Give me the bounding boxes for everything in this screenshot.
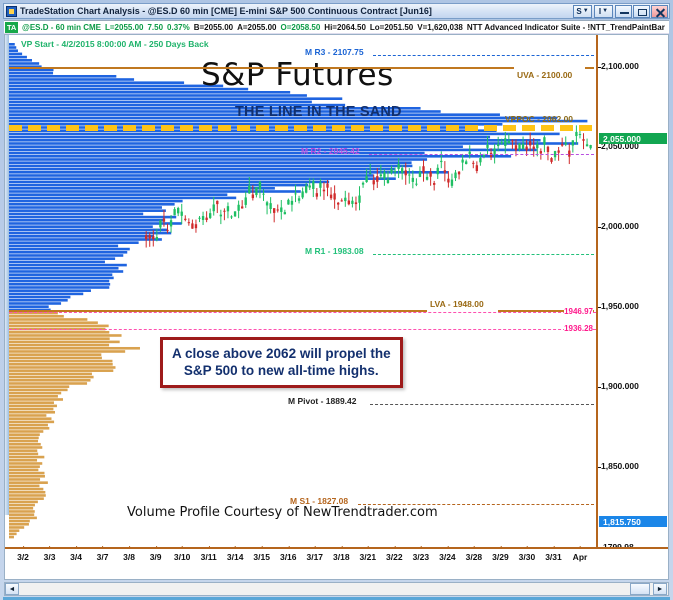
candle-body	[362, 183, 364, 185]
pink-line	[9, 312, 596, 313]
date-tick: 3/31	[545, 549, 562, 562]
callout-line-1: A close above 2062 will propel the	[172, 345, 391, 362]
candle-body	[518, 143, 520, 149]
candle-body	[287, 200, 289, 205]
candle-wick	[501, 139, 502, 145]
candle-wick	[416, 178, 417, 186]
candle-wick	[473, 161, 474, 168]
volume-profile-row	[9, 517, 37, 520]
bid-price: B=2055.00	[194, 23, 233, 32]
candle-body	[511, 140, 513, 141]
level-label: M R1 - 1983.08	[305, 246, 364, 256]
candle-body	[170, 220, 172, 226]
ask-price: A=2055.00	[237, 23, 276, 32]
close-button[interactable]	[651, 5, 668, 18]
candle-body	[561, 144, 563, 145]
scrollbar-track[interactable]	[19, 583, 668, 595]
volume-profile-row	[9, 456, 44, 459]
candle-body	[461, 160, 463, 163]
volume-profile-row	[9, 325, 109, 328]
volume-profile-row	[9, 273, 112, 276]
candle-body	[166, 230, 168, 231]
candle-body	[188, 222, 190, 223]
volume-profile-row	[9, 49, 18, 52]
volume-profile-row	[9, 529, 19, 532]
volume-profile-row	[9, 398, 63, 401]
volume-profile-row	[9, 501, 38, 504]
candle-body	[415, 184, 417, 185]
volume-profile-row	[9, 337, 110, 340]
candle-body	[358, 196, 360, 203]
horizontal-scrollbar[interactable]: ◄ ►	[4, 582, 669, 596]
candle-body	[152, 236, 154, 239]
candle-wick	[185, 215, 186, 221]
candle-body	[312, 181, 314, 189]
candle-body	[298, 198, 300, 200]
volume-profile-row	[9, 392, 61, 395]
candle-body	[294, 193, 296, 194]
date-tick: 3/17	[306, 549, 323, 562]
candle-wick	[224, 208, 225, 220]
quote-status-line: TA @ES.D - 60 min CME L=2055.00 7.50 0.3…	[4, 20, 669, 34]
candle-body	[437, 168, 439, 174]
volume-profile-row	[9, 155, 511, 158]
volume-profile-row	[9, 302, 61, 305]
volume-profile-row	[9, 334, 122, 337]
price-tick-label: 2,000.000	[601, 221, 639, 231]
candle-body	[426, 177, 428, 180]
volume-profile-row	[9, 382, 87, 385]
volume-profile-row	[9, 497, 44, 500]
candle-body	[284, 212, 286, 214]
candle-wick	[199, 216, 200, 222]
volume-profile-row	[9, 219, 165, 222]
volume-profile-row	[9, 293, 83, 296]
volume-profile-row	[9, 145, 463, 148]
candle-body	[309, 185, 311, 187]
volume-profile-row	[9, 366, 115, 369]
scroll-left-button[interactable]: ◄	[5, 583, 19, 595]
volume-profile-row	[9, 257, 115, 260]
price-tag-green: 2,055.000	[599, 133, 667, 144]
volume-profile-row	[9, 347, 140, 350]
candle-body	[557, 150, 559, 152]
candle-body	[348, 201, 350, 205]
date-tick: 3/22	[386, 549, 403, 562]
volume-profile-row	[9, 315, 64, 318]
candle-body	[245, 197, 247, 204]
volume-profile-row	[9, 353, 101, 356]
level-line	[373, 254, 594, 255]
volume-profile-row	[9, 152, 425, 155]
volume-profile-row	[9, 283, 110, 286]
volume-profile-row	[9, 120, 587, 123]
volume-profile-row	[9, 149, 537, 152]
volume-profile-row	[9, 363, 113, 366]
callout-line-2: S&P 500 to new all-time highs.	[172, 362, 391, 379]
volume-profile-row	[9, 203, 175, 206]
candle-body	[575, 132, 577, 136]
volume-profile-row	[9, 238, 162, 241]
level-line	[9, 67, 514, 69]
volume-profile-row	[9, 536, 14, 539]
candle-body	[230, 216, 232, 217]
volume-profile-row	[9, 289, 91, 292]
volume-profile-row	[9, 168, 395, 171]
candle-body	[369, 173, 371, 174]
level-label: LVA - 1948.00	[430, 299, 484, 309]
volume-profile-row	[9, 401, 54, 404]
candle-body	[234, 211, 236, 216]
candle-body	[213, 204, 215, 211]
chevron-down-icon: ▼	[602, 8, 608, 14]
candle-body	[159, 220, 161, 227]
indicator-dropdown-button[interactable]: I▼	[594, 5, 613, 18]
candle-body	[205, 218, 207, 220]
candle-wick	[363, 181, 364, 187]
volume-profile-row	[9, 478, 40, 481]
date-tick: 3/10	[174, 549, 191, 562]
candle-body	[209, 213, 211, 218]
candle-body	[259, 182, 261, 190]
volume-profile-row	[9, 331, 109, 334]
volume-profile-row	[9, 405, 57, 408]
candle-body	[380, 174, 382, 176]
volume-profile-row	[9, 56, 27, 59]
courtesy-annotation: Volume Profile Courtesy of NewTrendtrade…	[127, 505, 438, 520]
volume-value: V=1,620,038	[417, 23, 463, 32]
symbol-interval-label: @ES.D - 60 min CME	[22, 23, 101, 32]
magenta-price-tag: 1936.28	[564, 324, 593, 333]
volume-profile-row	[9, 376, 94, 379]
volume-profile-row	[9, 181, 329, 184]
candle-wick	[565, 136, 566, 146]
volume-profile-row	[9, 491, 45, 494]
candle-body	[440, 161, 442, 162]
candle-body	[280, 207, 282, 211]
magenta-price-tag: 1946.97	[564, 307, 593, 316]
volume-profile-row	[9, 299, 68, 302]
candle-body	[255, 187, 257, 195]
candle-body	[337, 203, 339, 205]
volume-profile-row	[9, 174, 373, 177]
date-tick: 3/2	[17, 549, 29, 562]
candle-wick	[188, 218, 189, 225]
candle-body	[458, 172, 460, 175]
level-label: UVA - 2100.00	[517, 70, 572, 80]
volume-profile-row	[9, 475, 45, 478]
level-label: VPPOC - 2062.00	[505, 114, 573, 124]
volume-profile-row	[9, 222, 182, 225]
candle-body	[550, 158, 552, 162]
volume-profile-row	[9, 462, 42, 465]
volume-profile-row	[9, 209, 166, 212]
candle-body	[383, 172, 385, 178]
volume-profile-row	[9, 216, 176, 219]
volume-profile-row	[9, 158, 427, 161]
window-title: TradeStation Chart Analysis - @ES.D 60 m…	[20, 6, 432, 16]
candle-wick	[149, 232, 150, 246]
volume-profile-row	[9, 59, 32, 62]
volume-profile-row	[9, 78, 134, 81]
style-dropdown-button[interactable]: S▼	[573, 5, 592, 18]
date-tick: 3/21	[360, 549, 377, 562]
price-tick-label: 1,850.000	[601, 461, 639, 471]
candle-wick	[252, 185, 253, 200]
candle-body	[536, 144, 538, 148]
volume-profile-row	[9, 251, 127, 254]
candle-body	[476, 165, 478, 171]
volume-profile-row	[9, 321, 98, 324]
candle-body	[501, 142, 503, 143]
candle-body	[486, 145, 488, 148]
volume-profile-row	[9, 161, 412, 164]
candle-body	[504, 138, 506, 146]
volume-profile-row	[9, 469, 38, 472]
volume-profile-row	[9, 369, 113, 372]
volume-profile-row	[9, 280, 109, 283]
volume-profile-row	[9, 62, 39, 65]
chart-title-annotation: S&P Futures	[201, 57, 394, 93]
candle-body	[497, 144, 499, 146]
price-tag-blue: 1,815.750	[599, 516, 667, 527]
volume-profile-row	[9, 139, 541, 142]
candle-wick	[220, 210, 221, 224]
candle-body	[149, 235, 151, 238]
candle-body	[266, 202, 268, 205]
candle-wick	[263, 189, 264, 201]
level-line	[9, 125, 596, 131]
date-tick: 3/15	[253, 549, 270, 562]
candle-body	[191, 223, 193, 228]
indicator-dropdown-label: I	[599, 7, 601, 16]
candle-body	[184, 219, 186, 220]
candle-wick	[583, 133, 584, 149]
title-bar: TradeStation Chart Analysis - @ES.D 60 m…	[3, 3, 670, 19]
candle-wick	[167, 224, 168, 234]
candle-body	[540, 151, 542, 154]
volume-profile-row	[9, 277, 114, 280]
volume-profile-row	[9, 85, 223, 88]
candle-body	[589, 145, 591, 148]
volume-profile-row	[9, 69, 54, 72]
candle-body	[237, 205, 239, 211]
candle-wick	[206, 211, 207, 222]
level-line	[369, 154, 594, 155]
date-axis[interactable]: 3/23/33/43/73/83/93/103/113/143/153/163/…	[5, 547, 668, 579]
volume-profile-row	[9, 261, 105, 264]
candle-body	[479, 158, 481, 162]
chart-icon	[6, 6, 17, 17]
chart-canvas[interactable]: VP Start - 4/2/2015 8:00:00 AM - 250 Day…	[4, 34, 669, 580]
candle-body	[582, 139, 584, 141]
volume-profile-row	[9, 520, 30, 523]
volume-profile-row	[9, 526, 24, 529]
candle-wick	[430, 168, 431, 186]
volume-profile-row	[9, 408, 53, 411]
level-line-right	[585, 67, 594, 69]
volume-profile-row	[9, 437, 39, 440]
volume-profile-row	[9, 184, 308, 187]
volume-profile-row	[9, 488, 43, 491]
date-tick: 3/11	[201, 549, 217, 562]
candle-body	[429, 172, 431, 177]
candle-body	[301, 191, 303, 197]
date-tick: 3/4	[70, 549, 82, 562]
candle-body	[394, 171, 396, 172]
date-tick: 3/29	[492, 549, 509, 562]
date-tick: 3/30	[519, 549, 536, 562]
candle-body	[579, 134, 581, 135]
volume-profile-row	[9, 193, 227, 196]
volume-profile-row	[9, 513, 34, 516]
candle-body	[447, 179, 449, 183]
candle-body	[202, 216, 204, 220]
candle-body	[291, 201, 293, 205]
volume-profile-row	[9, 142, 578, 145]
date-tick: 3/9	[150, 549, 162, 562]
candle-wick	[498, 137, 499, 151]
volume-profile-row	[9, 417, 51, 420]
candle-body	[543, 137, 545, 144]
volume-profile-row	[9, 267, 119, 270]
candle-body	[145, 235, 147, 239]
volume-profile-row	[9, 264, 127, 267]
candle-body	[319, 183, 321, 188]
scrollbar-thumb[interactable]	[630, 583, 650, 595]
volume-profile-row	[9, 414, 46, 417]
price-axis[interactable]: 2,100.0002,050.0002,000.0001,950.0001,90…	[596, 35, 668, 547]
volume-profile-row	[9, 245, 118, 248]
level-line	[358, 504, 594, 505]
volume-profile-row	[9, 232, 171, 235]
volume-profile-row	[9, 440, 38, 443]
low-price: Lo=2051.50	[370, 23, 413, 32]
volume-profile-row	[9, 72, 53, 75]
candle-body	[397, 164, 399, 169]
date-tick: 3/8	[123, 549, 135, 562]
candle-body	[547, 147, 549, 152]
candle-wick	[146, 231, 147, 247]
candle-body	[262, 194, 264, 195]
candle-body	[508, 141, 510, 144]
volume-profile-row	[9, 341, 120, 344]
candle-body	[216, 201, 218, 204]
candle-body	[387, 180, 389, 183]
candle-body	[472, 163, 474, 164]
volume-profile-row	[9, 46, 16, 49]
candle-body	[323, 190, 325, 192]
volume-profile-row	[9, 81, 184, 84]
tradestation-window: TradeStation Chart Analysis - @ES.D 60 m…	[0, 0, 673, 600]
volume-profile-row	[9, 453, 38, 456]
volume-profile-row	[9, 350, 125, 353]
volume-profile-row	[9, 449, 37, 452]
volume-profile-row	[9, 75, 116, 78]
candle-body	[269, 203, 271, 209]
percent-change: 0.37%	[167, 23, 190, 32]
date-tick: 3/16	[280, 549, 297, 562]
volume-profile-row	[9, 187, 275, 190]
chevron-down-icon: ▼	[583, 8, 589, 14]
volume-profile-row	[9, 270, 123, 273]
candle-body	[522, 144, 524, 149]
volume-profile-row	[9, 171, 448, 174]
level-line	[370, 404, 594, 405]
candle-body	[305, 186, 307, 193]
maximize-button[interactable]	[633, 5, 650, 18]
candle-body	[273, 208, 275, 213]
indicator-name: NTT Advanced Indicator Suite - !NTT_Tren…	[467, 23, 665, 32]
volume-profile-row	[9, 373, 92, 376]
style-dropdown-label: S	[576, 7, 581, 16]
volume-profile-row	[9, 213, 143, 216]
volume-profile-row	[9, 248, 130, 251]
volume-profile-row	[9, 385, 69, 388]
volume-profile-row	[9, 133, 560, 136]
pink-line	[9, 329, 596, 330]
level-label: M S1 - 1827.08	[290, 496, 348, 506]
volume-profile-row	[9, 507, 33, 510]
candle-body	[412, 178, 414, 182]
price-tick-label: 2,100.000	[601, 61, 639, 71]
volume-profile-row	[9, 523, 29, 526]
volume-profile-row	[9, 305, 49, 308]
candle-body	[373, 180, 375, 184]
candle-body	[408, 175, 410, 176]
volume-profile-row	[9, 53, 22, 56]
candle-body	[173, 209, 175, 215]
minimize-button[interactable]	[615, 5, 632, 18]
candle-body	[376, 176, 378, 182]
candle-wick	[163, 210, 164, 227]
candle-body	[326, 184, 328, 188]
volume-profile-row	[9, 197, 236, 200]
volume-profile-row	[9, 430, 43, 433]
scroll-right-button[interactable]: ►	[653, 583, 667, 595]
volume-profile-row	[9, 200, 183, 203]
high-price: Hi=2064.50	[324, 23, 366, 32]
date-tick: 3/28	[466, 549, 483, 562]
candle-body	[565, 143, 567, 145]
candle-body	[444, 170, 446, 172]
candle-wick	[309, 178, 310, 190]
candle-body	[451, 180, 453, 186]
volume-profile-row	[9, 97, 342, 100]
volume-profile-row	[9, 389, 68, 392]
candle-body	[405, 170, 407, 175]
volume-profile-row	[9, 360, 112, 363]
candle-body	[390, 169, 392, 173]
candle-wick	[409, 168, 410, 184]
candle-body	[401, 168, 403, 173]
volume-profile-row	[9, 225, 153, 228]
volume-profile-row	[9, 510, 35, 513]
candle-body	[177, 208, 179, 213]
volume-profile-row	[9, 94, 307, 97]
candle-wick	[380, 165, 381, 179]
candle-body	[252, 194, 254, 198]
volume-profile-row	[9, 504, 35, 507]
volume-profile-row	[9, 165, 412, 168]
candle-body	[163, 219, 165, 222]
volume-profile-row	[9, 318, 87, 321]
candle-wick	[370, 164, 371, 174]
date-tick: Apr	[573, 549, 588, 562]
candle-wick	[434, 181, 435, 191]
candle-body	[586, 144, 588, 146]
plot-area[interactable]: VP Start - 4/2/2015 8:00:00 AM - 250 Day…	[5, 35, 596, 547]
